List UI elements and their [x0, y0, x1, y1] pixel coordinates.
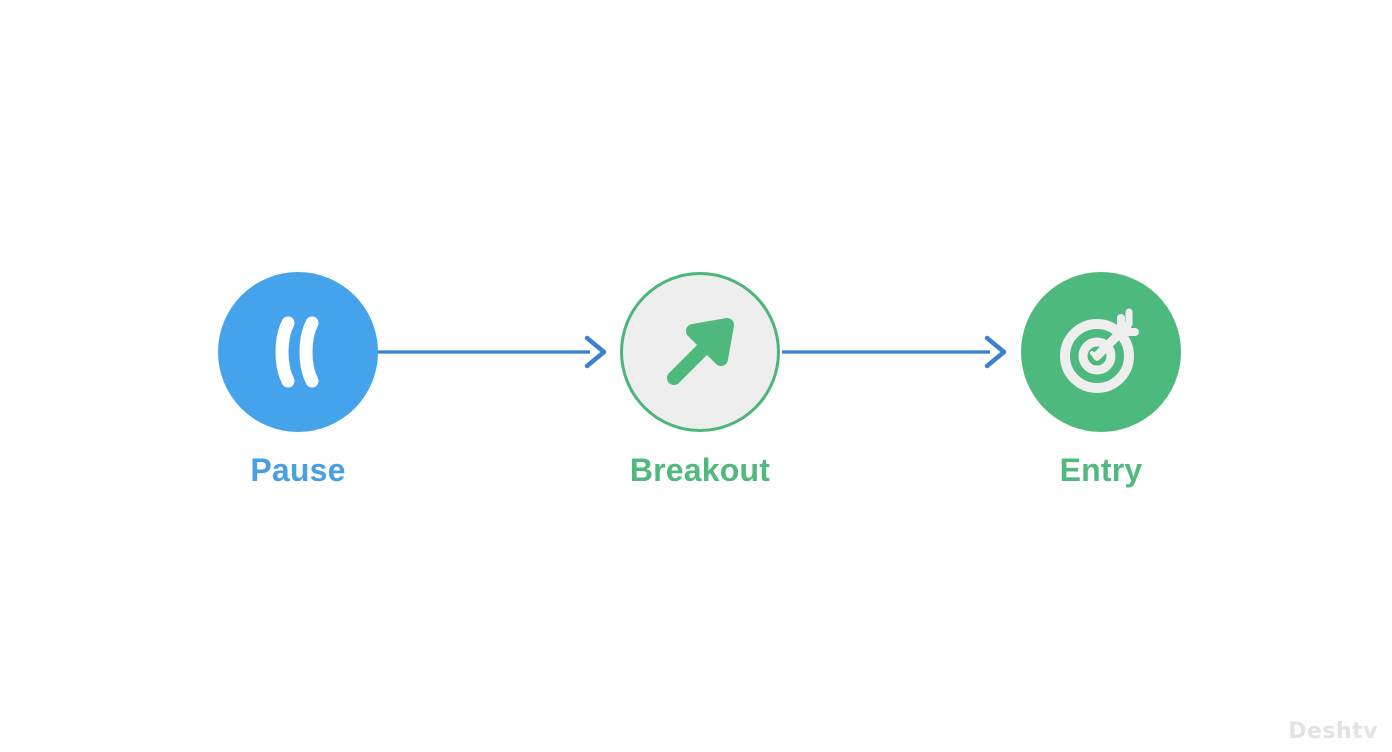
node-pause-label: Pause — [213, 454, 383, 486]
node-pause-circle[interactable] — [218, 272, 378, 432]
watermark: Deshtv — [1288, 719, 1378, 744]
pause-icon — [255, 309, 341, 395]
node-entry-circle[interactable] — [1021, 272, 1181, 432]
node-entry-label: Entry — [1016, 454, 1186, 486]
node-breakout-label: Breakout — [615, 454, 785, 486]
connector-pause-to-breakout — [378, 332, 612, 372]
diagram-canvas: Pause Breakout — [0, 0, 1392, 752]
node-breakout-circle[interactable] — [620, 272, 780, 432]
target-arrow-icon — [1051, 302, 1151, 402]
flow-diagram: Pause Breakout — [0, 0, 1392, 752]
connector-breakout-to-entry — [782, 332, 1012, 372]
node-breakout[interactable]: Breakout — [615, 272, 785, 486]
arrow-up-right-icon — [655, 307, 745, 397]
node-entry[interactable]: Entry — [1016, 272, 1186, 486]
node-pause[interactable]: Pause — [213, 272, 383, 486]
